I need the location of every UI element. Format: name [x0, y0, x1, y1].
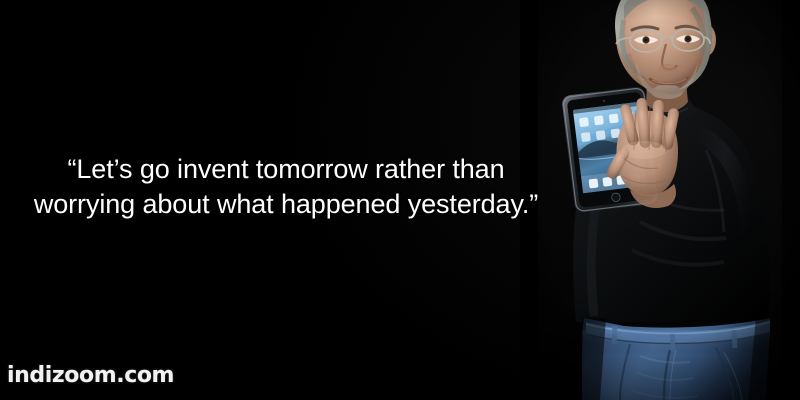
watermark-text: indizoom.com: [7, 363, 174, 388]
quote-text-block: “Let’s go invent tomorrow rather than wo…: [0, 152, 572, 222]
quote-line-2: worrying about what happened yesterday.”: [0, 187, 572, 222]
quote-image-canvas: “Let’s go invent tomorrow rather than wo…: [0, 0, 800, 400]
quote-line-1: “Let’s go invent tomorrow rather than: [0, 152, 572, 187]
